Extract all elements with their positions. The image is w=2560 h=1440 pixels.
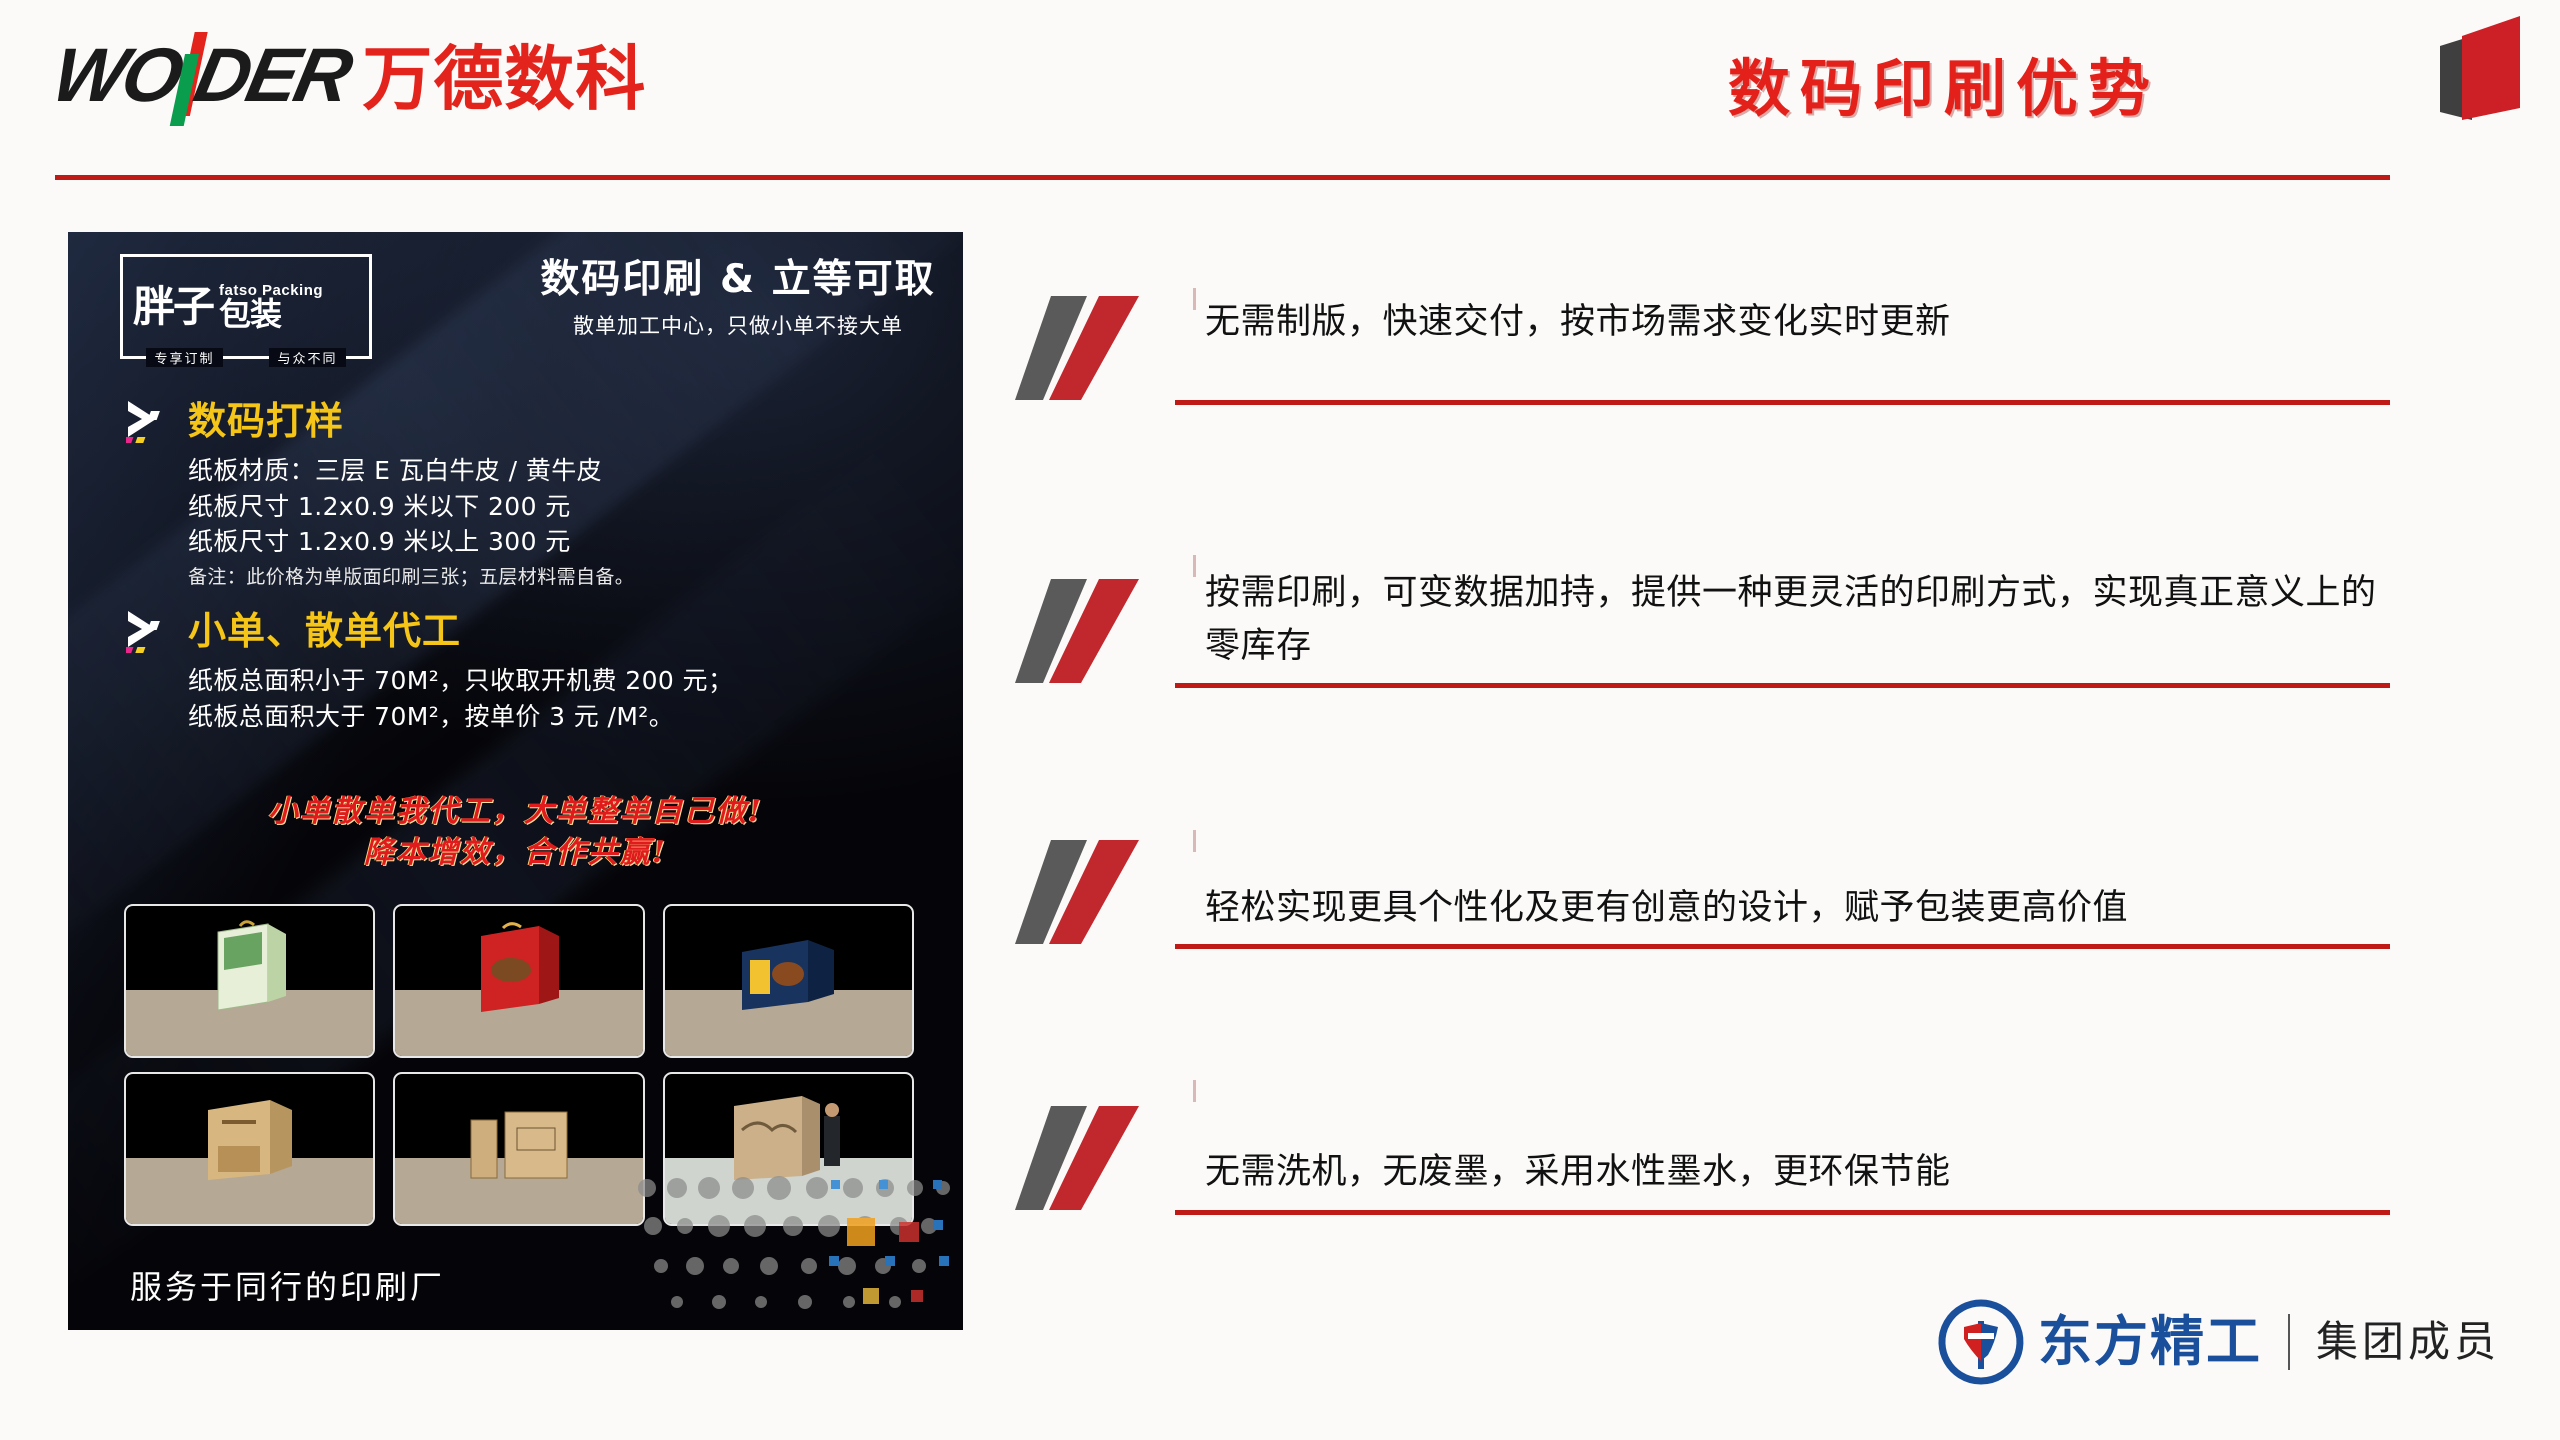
- advantage-item-4: 无需洗机，无废墨，采用水性墨水，更环保节能: [1015, 1088, 1951, 1199]
- tick-mark: [1193, 1080, 1196, 1102]
- product-photo: [393, 904, 644, 1058]
- double-slash-marker-icon: [1015, 1106, 1165, 1218]
- page-title: 数码印刷优势: [1728, 38, 2160, 128]
- brand-logo-latin-post: DER: [188, 38, 356, 114]
- advantage-underline: [1175, 400, 2390, 405]
- section-body: 纸板总面积小于 70M²，只收取开机费 200 元； 纸板总面积大于 70M²，…: [188, 663, 733, 734]
- corner-decoration-icon: [2432, 8, 2532, 128]
- section-line: 纸板材质：三层 E 瓦白牛皮 / 黄牛皮: [188, 453, 634, 489]
- product-photo: [663, 904, 914, 1058]
- advantage-item-2: 按需印刷，可变数据加持，提供一种更灵活的印刷方式，实现真正意义上的零库存: [1015, 555, 2405, 672]
- fatso-packing-logo: 胖子 fatso Packing 包装 专享订制 与众不同: [120, 254, 372, 359]
- fatso-tagline-right: 与众不同: [269, 348, 345, 367]
- product-photo: [393, 1072, 644, 1226]
- advantage-item-3: 轻松实现更具个性化及更有创意的设计，赋予包装更高价值: [1015, 840, 2128, 935]
- brand-logo: WO DER 万德数科: [55, 32, 646, 114]
- advantage-text: 按需印刷，可变数据加持，提供一种更灵活的印刷方式，实现真正意义上的零库存: [1205, 555, 2405, 672]
- double-slash-marker-icon: [1015, 579, 1165, 691]
- poster-footer-text: 服务于同行的印刷厂: [130, 1262, 445, 1308]
- section-body: 纸板材质：三层 E 瓦白牛皮 / 黄牛皮 纸板尺寸 1.2x0.9 米以下 20…: [188, 453, 634, 590]
- fatso-logo-taglines: 专享订制 与众不同: [123, 348, 369, 367]
- poster-slogan-line-2: 降本增效，合作共赢!: [68, 833, 963, 874]
- advantage-underline: [1175, 683, 2390, 688]
- section-line: 纸板总面积大于 70M²，按单价 3 元 /M²。: [188, 699, 733, 735]
- section-title: 小单、散单代工: [188, 612, 461, 650]
- poster-slogan-line-1: 小单散单我代工，大单整单自己做!: [68, 792, 963, 833]
- double-slash-marker-icon: [1015, 840, 1165, 952]
- poster-headline: 数码印刷 & 立等可取: [538, 258, 938, 303]
- tick-mark: [1193, 288, 1196, 310]
- section-note: 备注：此价格为单版面印刷三张；五层材料需自备。: [188, 564, 634, 591]
- advantage-text: 轻松实现更具个性化及更有创意的设计，赋予包装更高价值: [1205, 840, 2128, 935]
- arrow-bullet-icon: [126, 607, 182, 655]
- group-member-label: 集团成员: [2316, 1321, 2500, 1363]
- arrow-bullet-icon: [126, 397, 182, 445]
- poster-slogan: 小单散单我代工，大单整单自己做! 降本增效，合作共赢!: [68, 792, 963, 873]
- section-line: 纸板尺寸 1.2x0.9 米以上 300 元: [188, 524, 634, 560]
- section-line: 纸板尺寸 1.2x0.9 米以下 200 元: [188, 489, 634, 525]
- brand-logo-chinese: 万德数科: [362, 44, 646, 114]
- section-line: 纸板总面积小于 70M²，只收取开机费 200 元；: [188, 663, 733, 699]
- footer-divider: [2288, 1314, 2290, 1370]
- product-photo: [124, 1072, 375, 1226]
- fatso-tagline-left: 专享订制: [146, 348, 222, 367]
- poster-section-digital-proofing: 数码打样 纸板材质：三层 E 瓦白牛皮 / 黄牛皮 纸板尺寸 1.2x0.9 米…: [126, 397, 634, 590]
- advantage-text: 无需洗机，无废墨，采用水性墨水，更环保节能: [1205, 1088, 1951, 1199]
- group-member-logo: 东方精工 集团成员: [1938, 1299, 2500, 1385]
- poster-headline-block: 数码印刷 & 立等可取 散单加工中心，只做小单不接大单: [538, 258, 938, 340]
- advantage-underline: [1175, 1210, 2390, 1215]
- fatso-logo-main: 胖子: [133, 286, 213, 328]
- advantage-text: 无需制版，快速交付，按市场需求变化实时更新: [1205, 296, 1951, 349]
- section-title: 数码打样: [188, 402, 344, 440]
- dongfang-emblem-icon: [1938, 1299, 2024, 1385]
- tick-mark: [1193, 555, 1196, 577]
- group-company-name: 东方精工: [2038, 1315, 2262, 1369]
- promo-poster-image: 胖子 fatso Packing 包装 专享订制 与众不同 数码印刷 & 立等可…: [68, 232, 963, 1330]
- header-divider: [55, 175, 2390, 180]
- slide-root: WO DER 万德数科 数码印刷优势 胖子 fatso Packing 包装 专…: [0, 0, 2560, 1440]
- fatso-logo-sub: 包装: [219, 298, 323, 330]
- halftone-pattern-icon: [633, 1170, 963, 1330]
- poster-subheadline: 散单加工中心，只做小单不接大单: [538, 310, 938, 340]
- advantage-underline: [1175, 944, 2390, 949]
- brand-logo-latin-pre: WO: [46, 38, 187, 114]
- poster-section-small-order-oem: 小单、散单代工 纸板总面积小于 70M²，只收取开机费 200 元； 纸板总面积…: [126, 607, 733, 734]
- double-slash-marker-icon: [1015, 296, 1165, 408]
- brand-logo-latin: WO DER: [46, 32, 357, 114]
- tick-mark: [1193, 830, 1196, 852]
- advantage-item-1: 无需制版，快速交付，按市场需求变化实时更新: [1015, 296, 1951, 349]
- product-photo: [124, 904, 375, 1058]
